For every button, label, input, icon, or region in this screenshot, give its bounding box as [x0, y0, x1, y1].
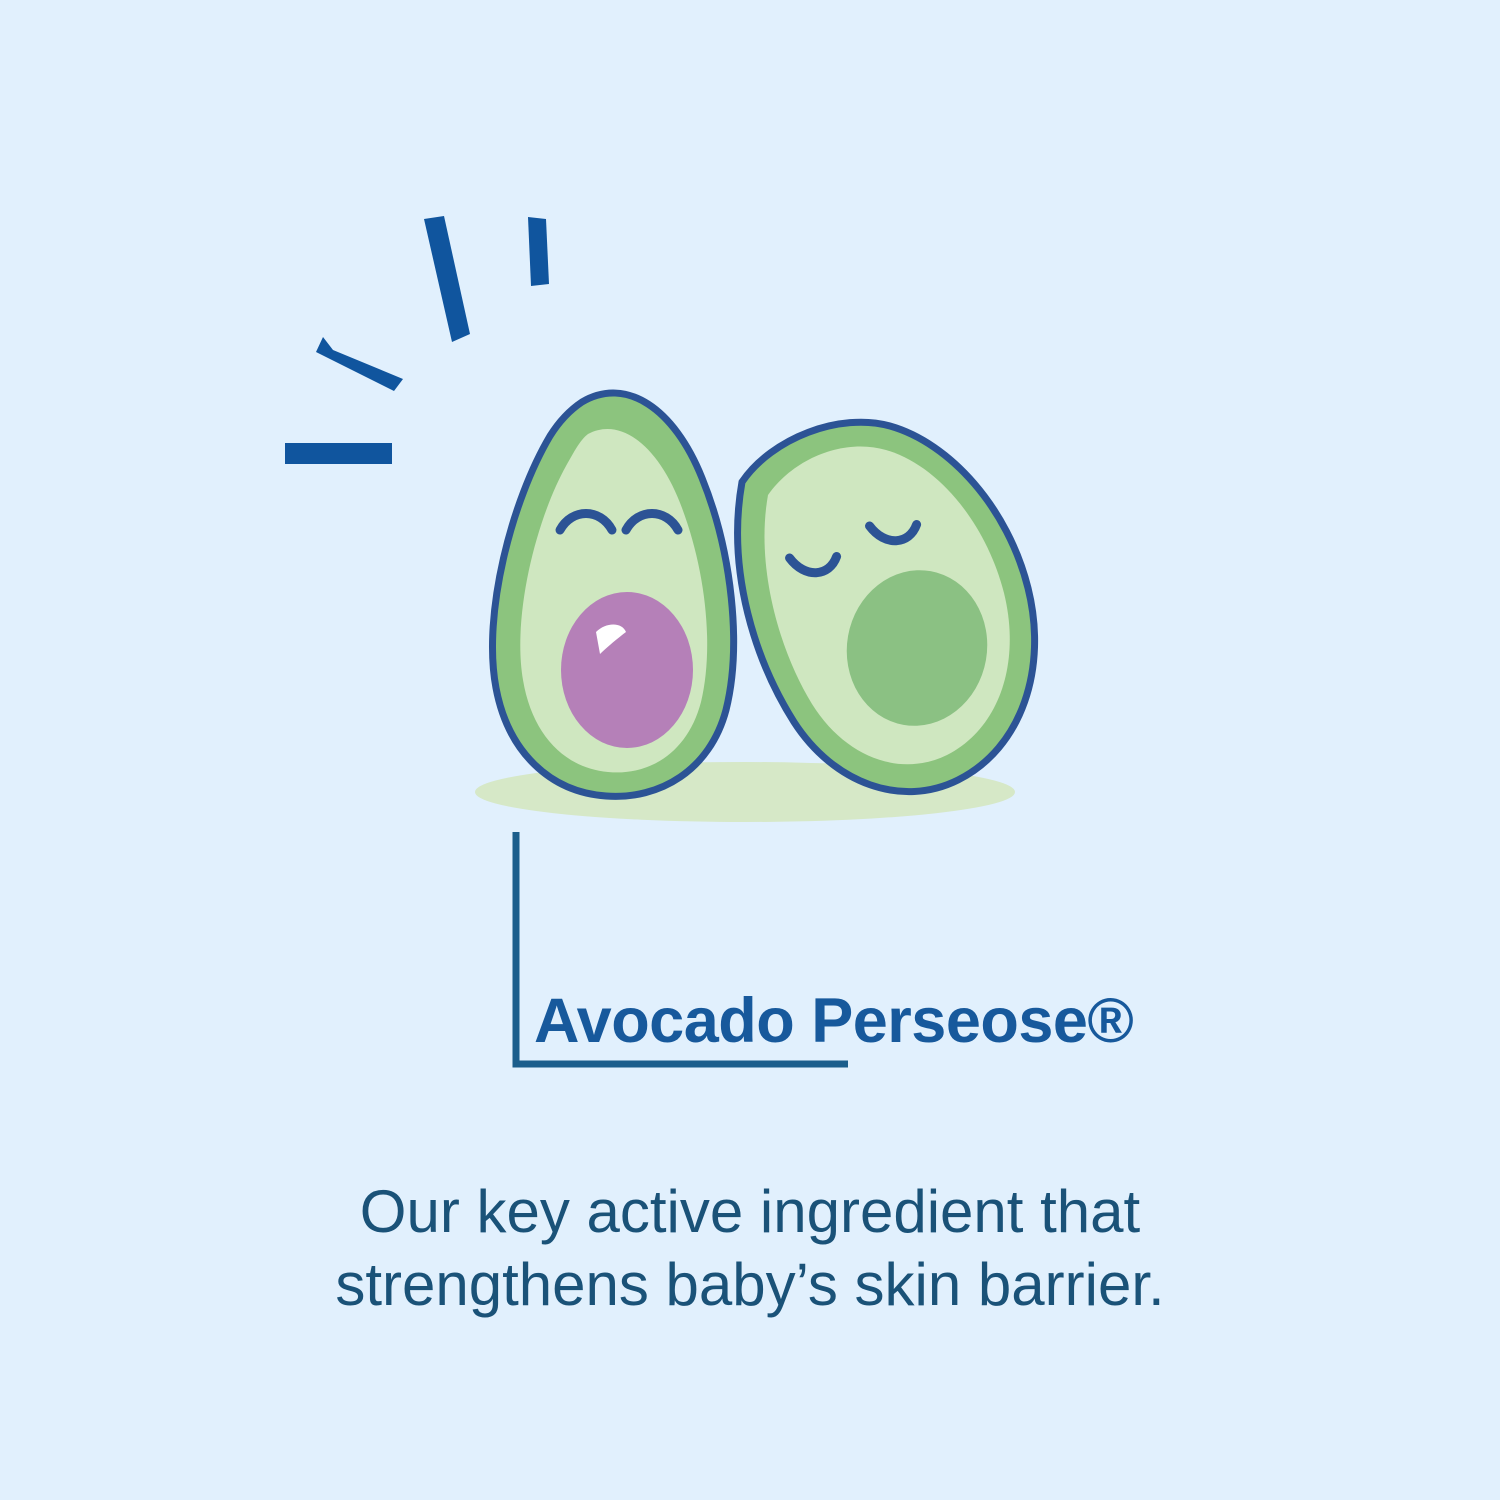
avocado-left-pit: [561, 592, 693, 748]
subtitle-line-1: Our key active ingredient that: [0, 1175, 1500, 1248]
avocado-illustration: [420, 360, 1080, 840]
subtitle: Our key active ingredient that strengthe…: [0, 1175, 1500, 1321]
page-title: Avocado Perseose®: [534, 990, 1133, 1053]
poster-canvas: Avocado Perseose® Our key active ingredi…: [0, 0, 1500, 1500]
avocado-right: [738, 422, 1035, 791]
subtitle-line-2: strengthens baby’s skin barrier.: [0, 1248, 1500, 1321]
sparkle-stroke-mid-diagonal: [316, 337, 403, 391]
avocado-left: [492, 393, 733, 796]
sparkle-stroke-long-diagonal: [424, 216, 470, 342]
sparkle-stroke-short-vertical: [528, 217, 549, 286]
sparkle-stroke-horizontal: [285, 443, 392, 464]
